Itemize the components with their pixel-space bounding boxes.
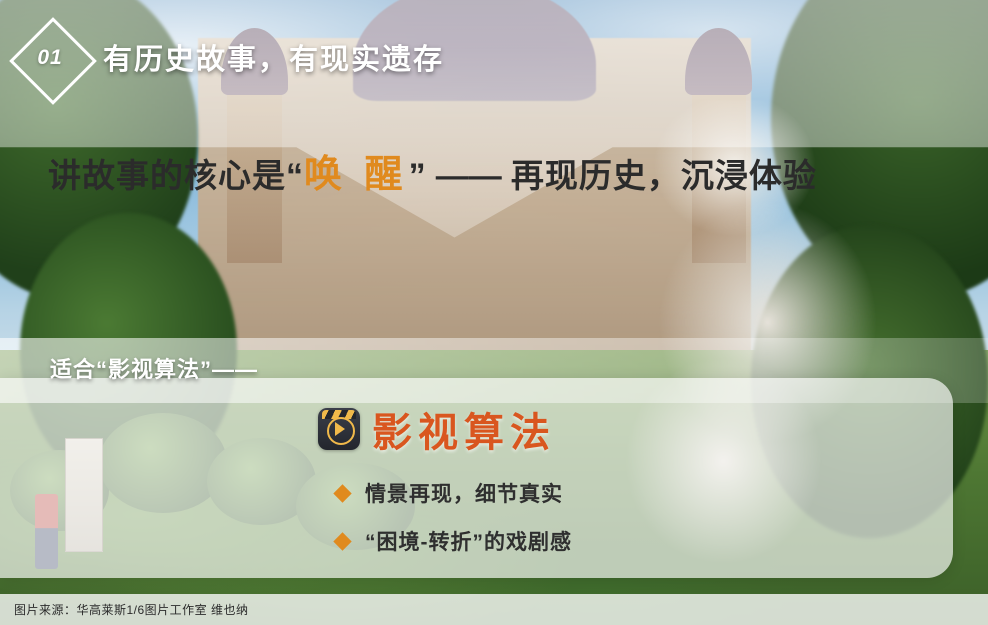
headline-suffix: 再现历史，沉浸体验 [511, 157, 817, 194]
list-item: 情景再现，细节真实 [336, 478, 572, 508]
headline-dash: —— [427, 157, 511, 194]
play-triangle [335, 422, 345, 436]
section-header-title: 有历史故事，有现实遗存 [103, 36, 444, 78]
headline: 讲故事的核心是“唤 醒” —— 再现历史，沉浸体验 [48, 143, 948, 198]
headline-open-quote: “ [286, 157, 304, 195]
diamond-bullet-icon [333, 532, 351, 550]
card-title: 影视算法 [372, 400, 556, 458]
headline-prefix: 讲故事的核心是 [48, 157, 286, 194]
diamond-bullet-icon [333, 484, 351, 502]
card-title-row: 影视算法 [318, 400, 556, 458]
slide-canvas: 01 有历史故事，有现实遗存 讲故事的核心是“唤 醒” —— 再现历史，沉浸体验… [0, 0, 988, 625]
film-clapper-icon [318, 408, 360, 450]
bullet-text: “困境-转折”的戏剧感 [365, 526, 572, 556]
image-credit: 图片来源：华高莱斯1/6图片工作室 维也纳 [14, 601, 249, 618]
section-number: 01 [22, 30, 78, 86]
bullet-list: 情景再现，细节真实 “困境-转折”的戏剧感 [336, 478, 572, 574]
subline: 适合“影视算法”—— [50, 352, 258, 384]
headline-accent: 唤 醒 [304, 154, 409, 196]
headline-close-quote: ” [409, 157, 427, 195]
list-item: “困境-转折”的戏剧感 [336, 526, 572, 556]
bullet-text: 情景再现，细节真实 [365, 478, 563, 508]
